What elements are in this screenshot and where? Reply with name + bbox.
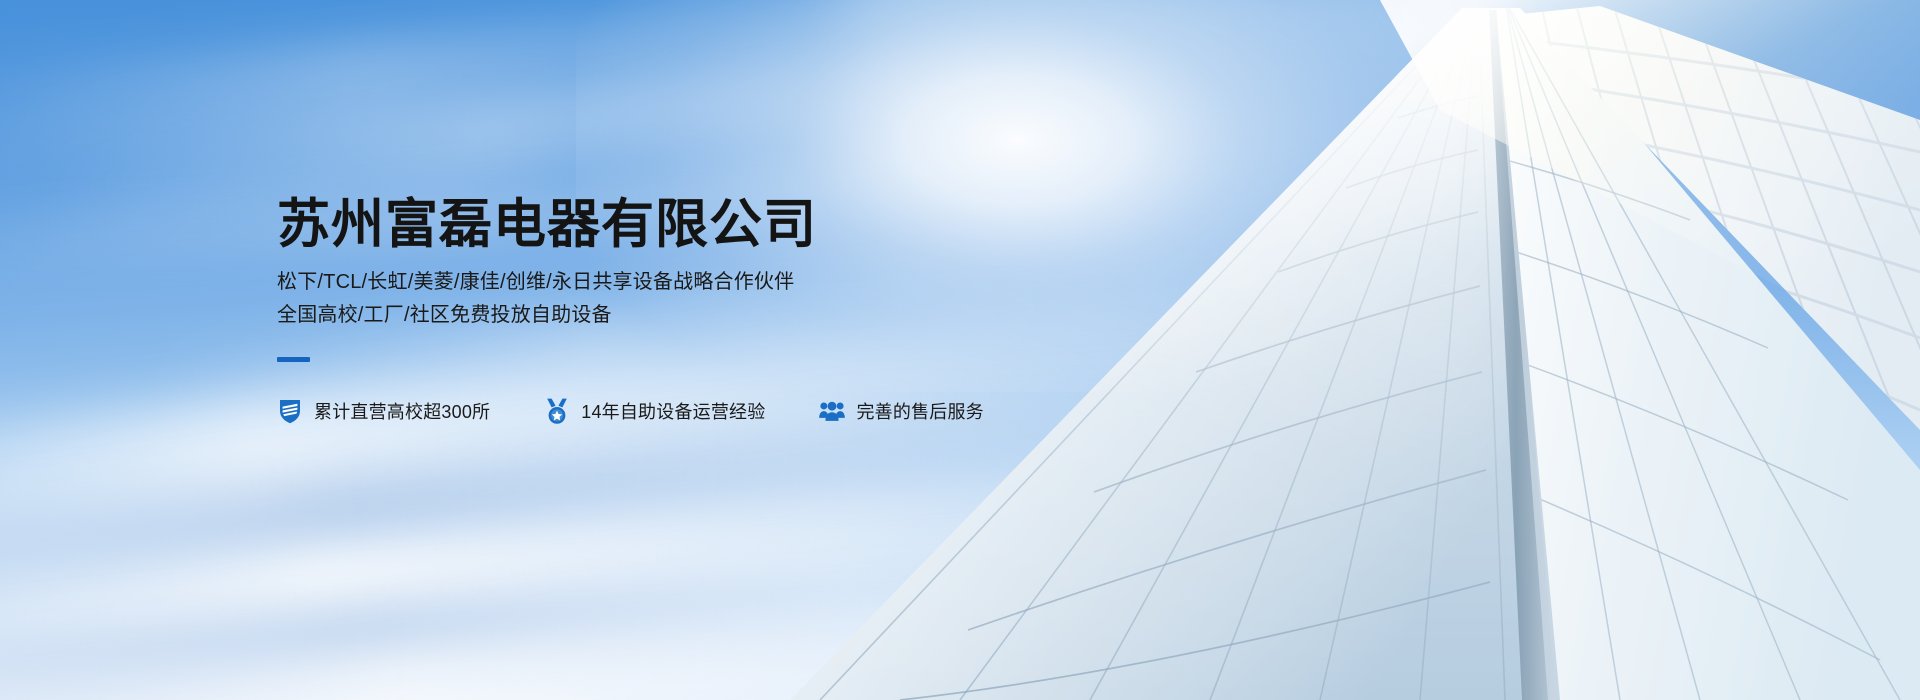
feature-item-service: 完善的售后服务	[819, 398, 983, 424]
page-title: 苏州富磊电器有限公司	[277, 196, 1177, 254]
accent-divider	[277, 357, 310, 362]
feature-item-experience: 14年自助设备运营经验	[544, 398, 765, 424]
feature-list: 累计直营高校超300所 14年自助设备运营经验	[277, 398, 1177, 424]
users-group-icon	[819, 398, 845, 424]
hero-content: 苏州富磊电器有限公司 松下/TCL/长虹/美菱/康佳/创维/永日共享设备战略合作…	[277, 196, 1177, 424]
feature-item-campuses: 累计直营高校超300所	[277, 398, 490, 424]
feature-label: 累计直营高校超300所	[314, 398, 490, 424]
medal-icon	[544, 398, 570, 424]
feature-label: 完善的售后服务	[856, 398, 983, 424]
hero-subtitle-line-2: 全国高校/工厂/社区免费投放自助设备	[277, 299, 1177, 331]
hero-banner: 苏州富磊电器有限公司 松下/TCL/长虹/美菱/康佳/创维/永日共享设备战略合作…	[0, 0, 1920, 700]
shield-icon	[277, 398, 303, 424]
hero-subtitle-line-1: 松下/TCL/长虹/美菱/康佳/创维/永日共享设备战略合作伙伴	[277, 266, 1177, 298]
feature-label: 14年自助设备运营经验	[581, 398, 765, 424]
